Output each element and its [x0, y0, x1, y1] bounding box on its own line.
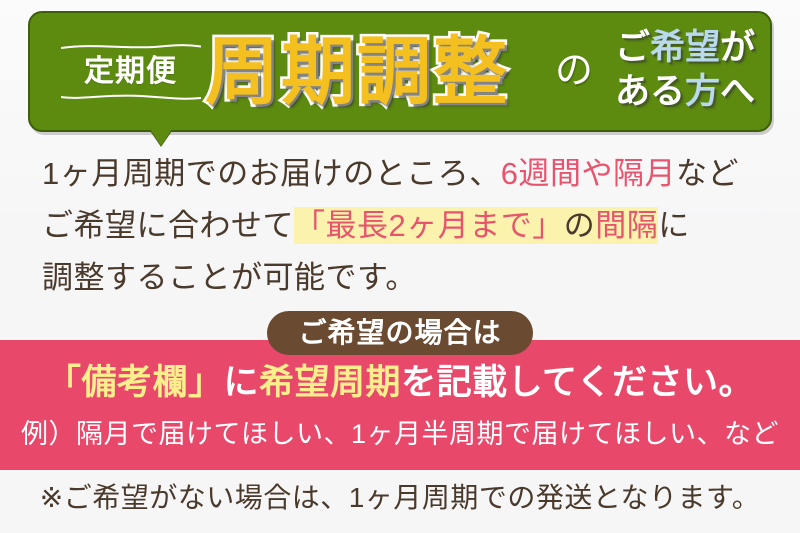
body-line-2: ご希望に合わせて「最長2ヶ月まで」の間隔に: [0, 200, 800, 252]
promotional-banner: 定期便 周期調整 の ご希望が ある方へ 1ヶ月周期でのお届けのところ、6週間や…: [0, 0, 800, 533]
kicker-text-go: ご: [615, 28, 650, 67]
kicker-text-kibou: 希望: [650, 28, 720, 67]
body-line1-ya: や: [582, 156, 614, 191]
band-please-write: を記載してください。: [401, 363, 754, 402]
body-line2-max-two-months: 「最長2ヶ月まで」: [294, 207, 564, 244]
body-line1-six-weeks: 6週間: [501, 156, 582, 191]
body-line1-every-other-month: 隔月: [613, 156, 676, 191]
body-line1-lead: 1ヶ月周期でのお届けのところ、: [42, 156, 501, 191]
subscription-badge-label: 定期便: [84, 55, 177, 90]
body-line-3: 調整することが可能です。: [0, 252, 800, 304]
pink-band-headline: 「備考欄」に希望周期を記載してください。: [0, 360, 800, 406]
body-line2-interval: 間隔: [595, 207, 658, 244]
band-ni: に: [224, 363, 260, 402]
speech-bubble-tail-icon: [150, 129, 172, 145]
header-bubble-wrapper: 定期便 周期調整 の ご希望が ある方へ: [0, 0, 800, 150]
band-remarks-field: 「備考欄」: [46, 363, 224, 402]
body-line1-tail: など: [676, 156, 739, 191]
wave-line-bottom-icon: [61, 94, 201, 101]
header-kicker-line-2: ある方へ: [600, 70, 770, 114]
header-kicker: ご希望が ある方へ: [600, 26, 770, 114]
footer-note: ※ご希望がない場合は、1ヶ月周期での発送となります。: [0, 478, 800, 518]
kicker-text-aru: ある: [615, 72, 685, 111]
pink-band-example: 例）隔月で届けてほしい、1ヶ月半周期で届けてほしい、など: [0, 416, 800, 452]
kicker-text-ga: が: [720, 28, 755, 67]
request-case-pill: ご希望の場合は: [267, 311, 533, 355]
header-title-particle: の: [555, 52, 593, 90]
subscription-badge: 定期便: [58, 28, 203, 116]
wave-line-top-icon: [61, 43, 201, 50]
body-line2-lead: ご希望に合わせて: [42, 208, 294, 243]
body-line-1: 1ヶ月周期でのお届けのところ、6週間や隔月など: [0, 148, 800, 200]
band-desired-cycle: 希望周期: [259, 363, 401, 402]
pink-callout-band: 「備考欄」に希望周期を記載してください。 例）隔月で届けてほしい、1ヶ月半周期で…: [0, 340, 800, 470]
header-title: 周期調整: [205, 20, 509, 124]
request-case-pill-label: ご希望の場合は: [298, 319, 501, 347]
body-line2-no: の: [564, 207, 596, 244]
body-paragraph: 1ヶ月周期でのお届けのところ、6週間や隔月など ご希望に合わせて「最長2ヶ月まで…: [0, 148, 800, 304]
body-line2-tail: に: [658, 208, 690, 243]
header-kicker-line-1: ご希望が: [600, 26, 770, 70]
kicker-text-he: へ: [720, 72, 755, 111]
kicker-text-kata: 方: [685, 72, 720, 111]
